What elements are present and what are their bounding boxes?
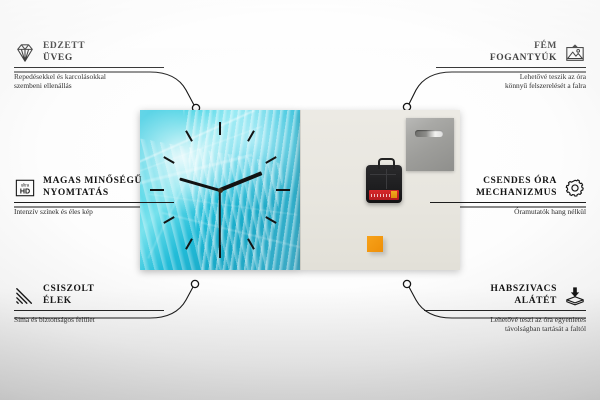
- feature-heading: EDZETT ÜVEG: [14, 41, 164, 64]
- infographic-canvas: EDZETT ÜVEG Repedésekkel és karcolásokka…: [0, 0, 600, 400]
- diamond-icon: [14, 43, 36, 63]
- clock-second-hand: [219, 190, 221, 248]
- feature-description: Lehetővé teszi az óra egyenletes: [424, 315, 586, 325]
- clock-tick: [219, 122, 221, 135]
- clock-mechanism: [366, 165, 402, 203]
- feature-title: FÉM FOGANTYÚK: [490, 41, 557, 64]
- feature-description: szembeni ellenállás: [14, 81, 164, 91]
- feature-divider: [14, 310, 164, 311]
- feature-fem-fogantyuk: FÉM FOGANTYÚK Lehetővé teszik az óra kön…: [436, 41, 586, 91]
- mechanism-seam: [386, 169, 387, 189]
- aa-battery: [369, 190, 399, 200]
- feature-habszivacs-alatet: HABSZIVACS ALÁTÉT Lehetővé teszi az óra …: [424, 284, 586, 334]
- gear-icon: [564, 178, 586, 198]
- feature-description: távolságban tartását a faltól: [424, 324, 586, 334]
- foam-pad-icon: [564, 286, 586, 306]
- feature-description: Repedésekkel és karcolásokkal: [14, 72, 164, 82]
- feature-divider: [14, 202, 174, 203]
- feature-heading: CSENDES ÓRA MECHANIZMUS: [430, 176, 586, 199]
- connector-dot-habszivacs: [403, 280, 410, 287]
- polished-edges-icon: [14, 286, 36, 306]
- feature-title: MAGAS MINŐSÉGŰ NYOMTATÁS: [43, 176, 142, 199]
- feature-divider: [436, 67, 586, 68]
- feature-title: HABSZIVACS ALÁTÉT: [490, 284, 557, 307]
- feature-title: EDZETT ÜVEG: [43, 41, 85, 64]
- feature-divider: [14, 67, 164, 68]
- feature-divider: [430, 202, 586, 203]
- feature-heading: FÉM FOGANTYÚK: [436, 41, 586, 64]
- foam-pad: [367, 236, 383, 252]
- feature-description: Sima és biztonságos felület: [14, 315, 164, 325]
- connector-dot-csiszolt-elek: [191, 280, 198, 287]
- product-photo: [140, 110, 460, 270]
- metal-hanger-plate: [406, 118, 454, 171]
- mechanism-seam: [370, 174, 396, 175]
- feature-csendes-ora-mechanizmus: CSENDES ÓRA MECHANIZMUS Óramutatók hang …: [430, 176, 586, 216]
- feature-heading: CSISZOLT ÉLEK: [14, 284, 164, 307]
- feature-title: CSISZOLT ÉLEK: [43, 284, 94, 307]
- clock-tick: [276, 189, 290, 191]
- mechanism-hanger-loop: [378, 158, 395, 169]
- hanger-keyhole-slot: [415, 130, 443, 137]
- picture-hanger-icon: [564, 43, 586, 63]
- feature-description: Intenzív színek és éles kép: [14, 207, 174, 217]
- feature-edzett-uveg: EDZETT ÜVEG Repedésekkel és karcolásokka…: [14, 41, 164, 91]
- ultra-hd-icon: ultra HD: [14, 178, 36, 198]
- battery-label-stripes: [371, 194, 391, 197]
- feature-csiszolt-elek: CSISZOLT ÉLEK Sima és biztonságos felüle…: [14, 284, 164, 324]
- feature-description: Lehetővé teszik az óra: [436, 72, 586, 82]
- feature-heading: ultra HD MAGAS MINŐSÉGŰ NYOMTATÁS: [14, 176, 174, 199]
- feature-description: könnyű felszerelését a falra: [436, 81, 586, 91]
- feature-magas-minosegu-nyomtatas: ultra HD MAGAS MINŐSÉGŰ NYOMTATÁS Intenz…: [14, 176, 174, 216]
- feature-heading: HABSZIVACS ALÁTÉT: [424, 284, 586, 307]
- feature-description: Óramutatók hang nélkül: [430, 207, 586, 217]
- clock-center-hub: [218, 188, 223, 193]
- svg-text:HD: HD: [20, 187, 30, 195]
- feature-divider: [424, 310, 586, 311]
- feature-title: CSENDES ÓRA MECHANIZMUS: [476, 176, 557, 199]
